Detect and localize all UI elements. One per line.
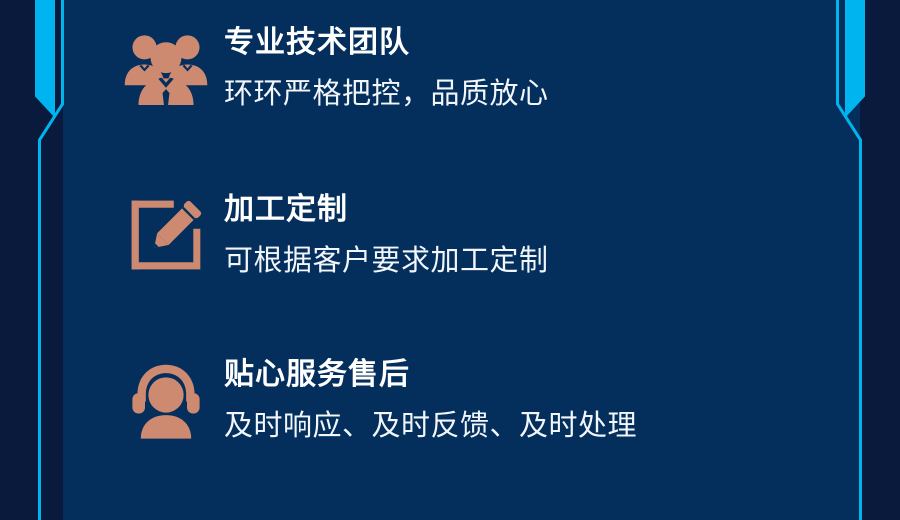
feature-item-custom: 加工定制 可根据客户要求加工定制	[120, 189, 549, 281]
feature-text-block: 专业技术团队 环环严格把控，品质放心	[212, 22, 549, 114]
feature-item-service: 贴心服务售后 及时响应、及时反馈、及时处理	[120, 354, 637, 446]
feature-item-team: 专业技术团队 环环严格把控，品质放心	[120, 22, 549, 114]
feature-title: 加工定制	[224, 191, 549, 229]
feature-subtitle: 可根据客户要求加工定制	[224, 241, 549, 281]
edit-pencil-square-icon	[120, 189, 212, 281]
feature-subtitle: 环环严格把控，品质放心	[224, 74, 549, 114]
feature-title: 贴心服务售后	[224, 356, 637, 394]
feature-title: 专业技术团队	[224, 24, 549, 62]
team-people-icon	[120, 22, 212, 114]
feature-text-block: 贴心服务售后 及时响应、及时反馈、及时处理	[212, 354, 637, 446]
headset-support-icon	[120, 354, 212, 446]
feature-poster: 专业技术团队 环环严格把控，品质放心	[0, 0, 900, 520]
feature-list: 专业技术团队 环环严格把控，品质放心	[63, 0, 860, 520]
accent-bar-left	[35, 0, 55, 118]
feature-text-block: 加工定制 可根据客户要求加工定制	[212, 189, 549, 281]
feature-subtitle: 及时响应、及时反馈、及时处理	[224, 406, 637, 446]
